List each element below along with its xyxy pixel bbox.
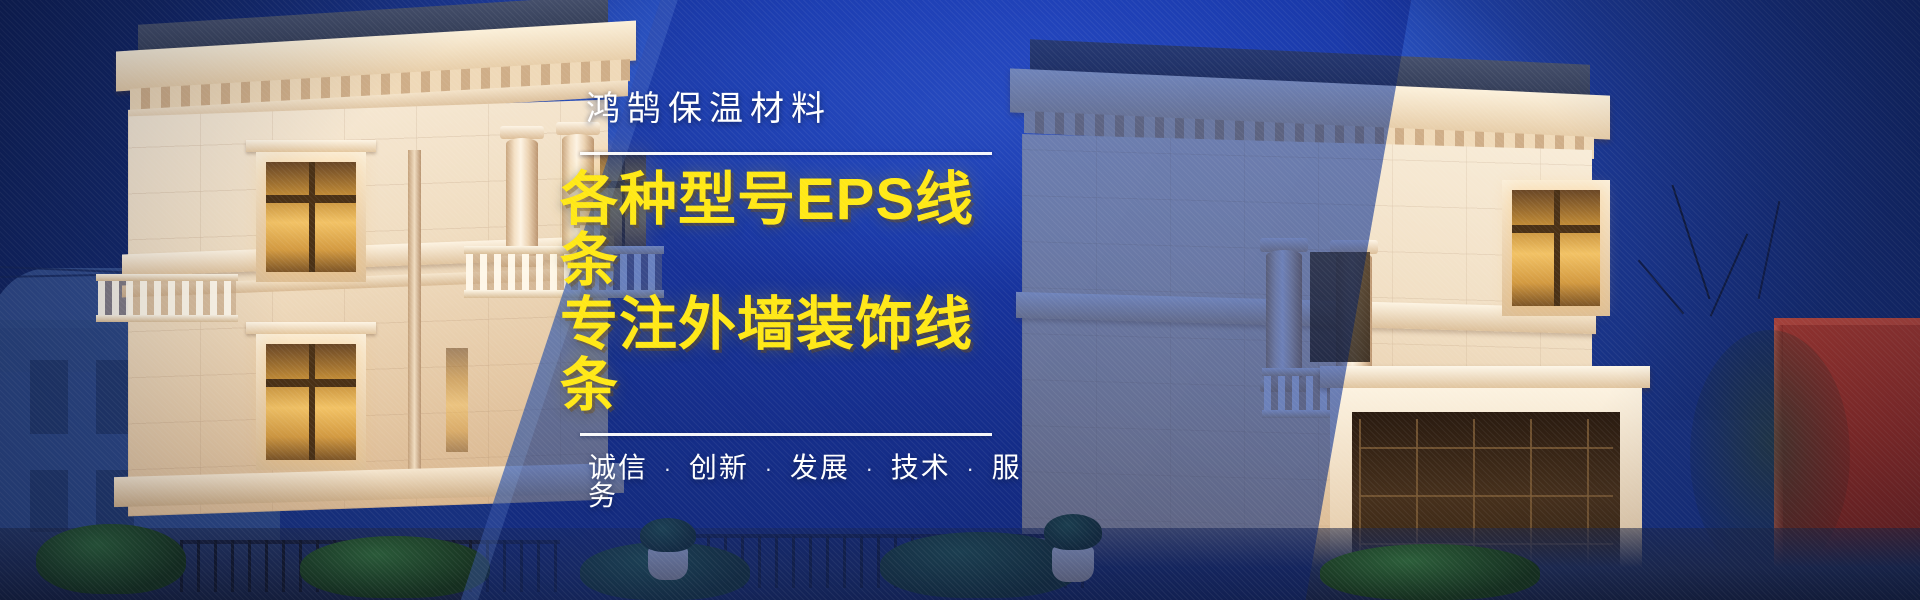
window-mullion-horizontal	[266, 195, 356, 203]
tagline-item: 技术	[891, 452, 951, 483]
tagline-item: 诚信	[588, 452, 648, 483]
window-mullion-horizontal	[1512, 225, 1600, 233]
tagline-separator: ·	[967, 456, 976, 481]
window-hood	[246, 322, 376, 334]
tagline-separator: ·	[765, 456, 774, 481]
tagline-item: 创新	[689, 452, 749, 483]
red-wall-cap	[1774, 318, 1920, 325]
background-window	[30, 470, 68, 532]
window-mullion-horizontal	[266, 379, 356, 387]
window-hood	[246, 140, 376, 152]
tagline: 诚信 · 创新 · 发展 · 技术 · 服务	[560, 454, 1030, 510]
background-window	[30, 360, 68, 434]
lit-window	[266, 162, 356, 272]
divider-top	[580, 152, 992, 155]
headline-line-2: 专注外墙装饰线条	[560, 294, 1030, 417]
tagline-separator: ·	[866, 456, 875, 481]
lit-window	[1512, 190, 1600, 306]
balustrade	[98, 281, 236, 315]
shrub	[1320, 544, 1540, 600]
window-mullion-vertical	[1554, 190, 1560, 306]
tagline-separator: ·	[664, 456, 673, 481]
headline-line-1: 各种型号EPS线条	[560, 169, 1030, 292]
brand-name: 鸿鹄保温材料	[560, 92, 1030, 126]
window-mullion-vertical	[309, 344, 315, 460]
balustrade-rail	[96, 274, 238, 281]
tagline-item: 发展	[790, 452, 850, 483]
column	[506, 138, 538, 258]
shrub	[36, 524, 186, 594]
balustrade-base	[96, 315, 238, 322]
slot-window	[446, 348, 468, 452]
shrub	[300, 536, 490, 598]
window-mullion-vertical	[309, 162, 315, 272]
divider-bottom	[580, 433, 992, 436]
banner-text-block: 鸿鹄保温材料 各种型号EPS线条 专注外墙装饰线条 诚信 · 创新 · 发展 ·…	[560, 92, 1030, 510]
downpipe	[408, 150, 421, 480]
lit-window	[266, 344, 356, 460]
promo-banner: 鸿鹄保温材料 各种型号EPS线条 专注外墙装饰线条 诚信 · 创新 · 发展 ·…	[0, 0, 1920, 600]
garage-lintel	[1320, 366, 1650, 388]
